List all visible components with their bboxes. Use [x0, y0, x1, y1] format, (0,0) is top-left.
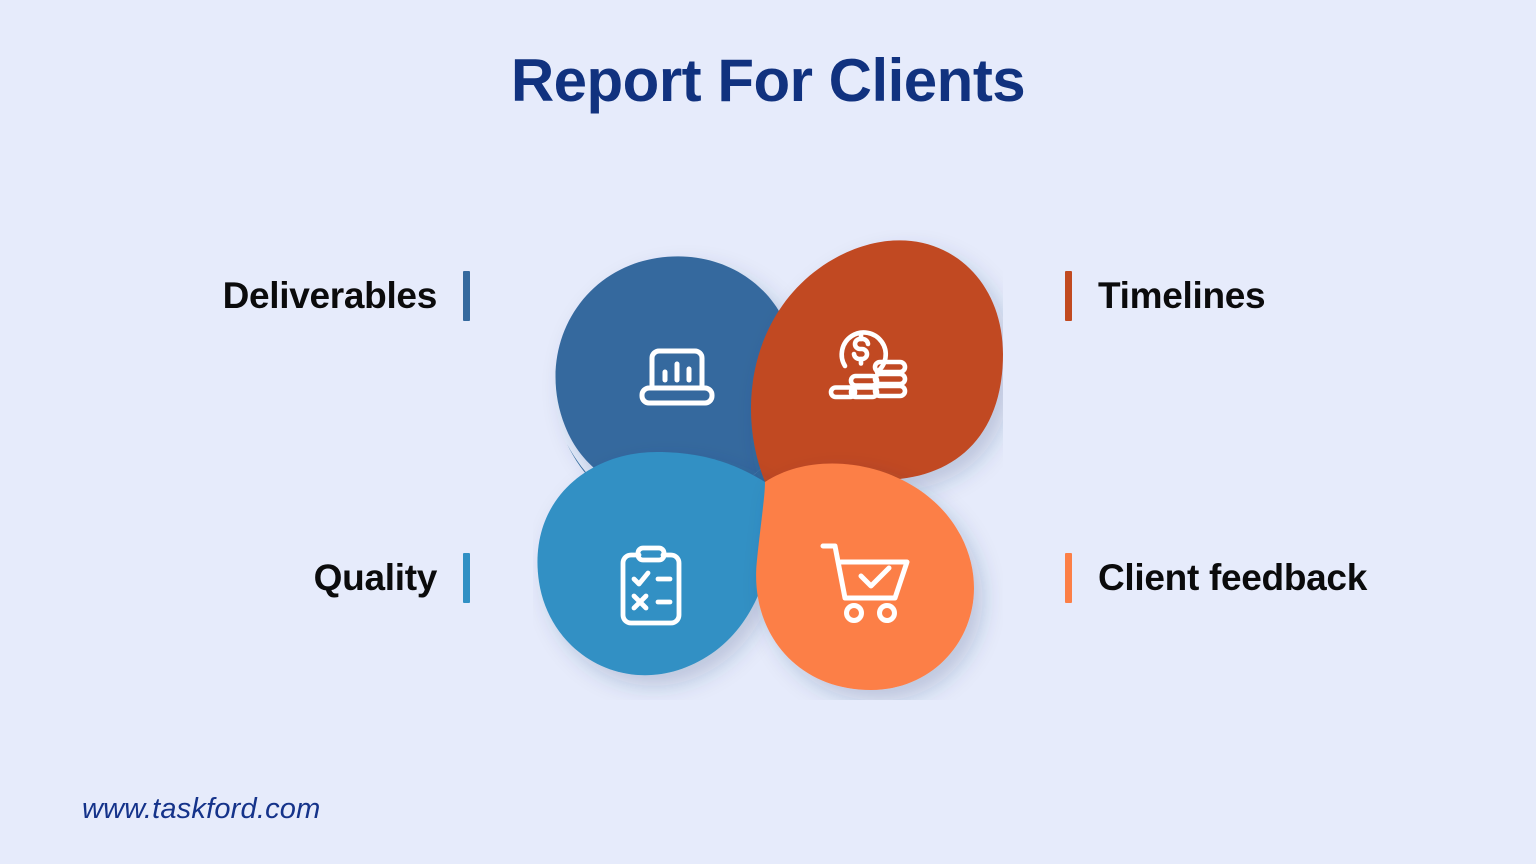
legend-label-client-feedback: Client feedback [1098, 557, 1367, 599]
legend-color-bar-quality [463, 553, 470, 603]
legend-item-quality[interactable]: Quality [314, 547, 470, 609]
footer-website-url[interactable]: www.taskford.com [82, 793, 321, 826]
pinwheel-diagram [533, 230, 1003, 700]
petal-quality[interactable] [537, 452, 773, 675]
legend-label-deliverables: Deliverables [223, 275, 437, 317]
petal-shape-quality [537, 452, 773, 675]
legend-item-timelines[interactable]: Timelines [1065, 265, 1265, 327]
legend-color-bar-deliverables [463, 271, 470, 321]
legend-color-bar-client-feedback [1065, 553, 1072, 603]
legend-label-quality: Quality [314, 557, 437, 599]
legend-item-deliverables[interactable]: Deliverables [223, 265, 470, 327]
legend-label-timelines: Timelines [1098, 275, 1265, 317]
legend-item-client-feedback[interactable]: Client feedback [1065, 547, 1367, 609]
legend-color-bar-timelines [1065, 271, 1072, 321]
infographic-stage: Deliverables Quality Timelines Client fe… [0, 200, 1536, 720]
page-title: Report For Clients [0, 48, 1536, 114]
